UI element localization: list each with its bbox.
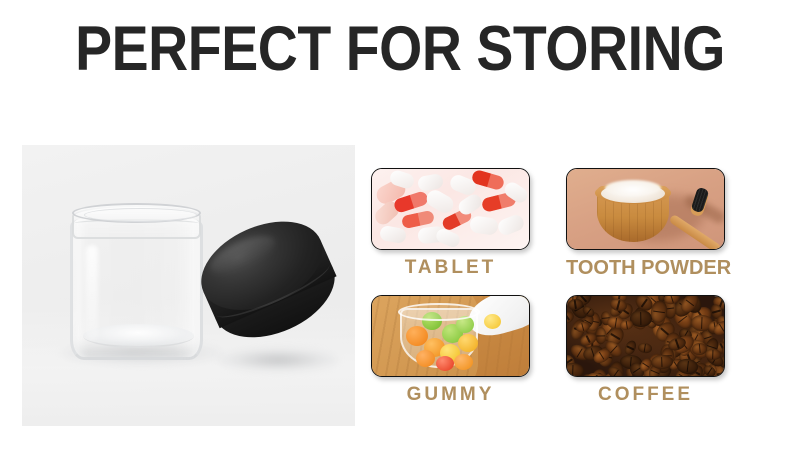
usecase-grid: TABLET TOOTH POWDER: [371, 168, 725, 417]
lid-sheen: [205, 228, 280, 280]
coffee-bean: [724, 329, 725, 349]
usecase-label-tablet: TABLET: [371, 257, 530, 279]
usecase-label-tooth-powder: TOOTH POWDER: [566, 257, 725, 279]
gummy-thumbnail: [371, 295, 530, 377]
usecase-item-gummy: GUMMY: [371, 295, 530, 406]
usecase-item-coffee: COFFEE: [566, 295, 725, 406]
gummy-candies-bowl-icon: [372, 296, 529, 376]
jar-inner-floor: [83, 324, 194, 348]
page-title: PERFECT FOR STORING: [48, 16, 752, 82]
coffee-bean: [705, 349, 721, 361]
usecase-label-gummy: GUMMY: [371, 384, 530, 406]
coffee-beans-icon: [567, 296, 724, 376]
jar-highlight: [86, 245, 98, 341]
jar-rim-inner: [84, 208, 197, 222]
jar-rim: [72, 203, 201, 223]
coffee-bean: [724, 325, 725, 341]
promo-banner: PERFECT FOR STORING: [0, 0, 800, 451]
tooth-powder-bowl-icon: [567, 169, 724, 249]
glass-jar: [70, 205, 203, 360]
tablets-and-capsules-icon: [372, 169, 529, 249]
tablet-thumbnail: [371, 168, 530, 250]
usecase-item-tablet: TABLET: [371, 168, 530, 279]
coffee-thumbnail: [566, 295, 725, 377]
usecase-item-tooth-powder: TOOTH POWDER: [566, 168, 725, 279]
tooth-powder-thumbnail: [566, 168, 725, 250]
usecase-label-coffee: COFFEE: [566, 384, 725, 406]
coffee-bean: [637, 342, 652, 354]
hero-product-image: [22, 145, 355, 426]
coffee-bean: [566, 362, 584, 377]
